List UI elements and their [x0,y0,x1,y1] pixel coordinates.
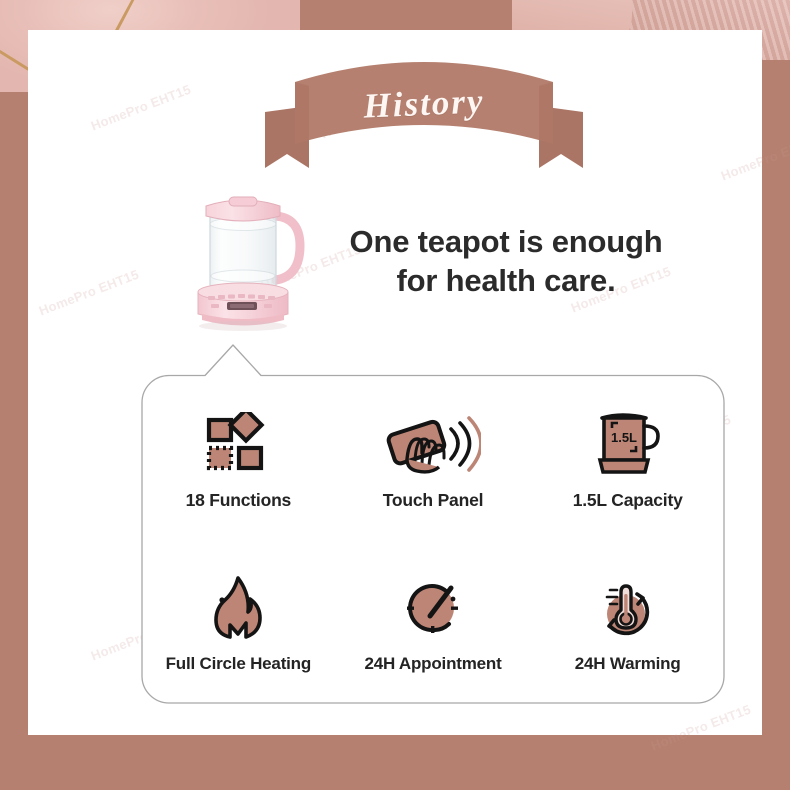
product-image-kettle [180,180,312,342]
feature-item-full-circle-heating: Full Circle Heating [141,572,336,674]
page-headline: One teapot is enough for health care. [320,222,692,300]
headline-line-1: One teapot is enough [320,222,692,261]
content-card: HomePro EHT15HomePro EHT15HomePro EHT15H… [28,30,762,735]
headline-line-2: for health care. [320,261,692,300]
flame-icon [207,572,269,642]
feature-label: 24H Warming [575,654,681,674]
feature-label: Touch Panel [383,490,484,511]
feature-label: 18 Functions [186,490,292,511]
feature-item-appointment: 24H Appointment [336,572,531,674]
feature-item-touch-panel: Touch Panel [336,408,531,511]
feature-label: 1.5L Capacity [573,490,683,511]
capacity-icon-text: 1.5L [611,430,637,445]
feature-grid: 18 Functions [141,378,725,704]
thermometer-cycle-icon [593,572,663,642]
history-ribbon-banner: History [265,56,583,174]
watermark-text: HomePro EHT15 [89,82,193,134]
four-blocks-icon [205,408,271,478]
watermark-text: HomePro EHT15 [37,267,141,319]
clock-gauge-icon [399,572,467,642]
feature-item-warming: 24H Warming [530,572,725,674]
feature-label: Full Circle Heating [166,654,311,674]
feature-speech-bubble: 18 Functions [141,342,725,704]
feature-item-capacity: 1.5L 1.5L Capacity [530,408,725,511]
feature-item-18-functions: 18 Functions [141,408,336,511]
hand-touch-panel-icon [385,408,481,478]
feature-label: 24H Appointment [364,654,501,674]
measuring-jug-icon: 1.5L [590,408,666,478]
